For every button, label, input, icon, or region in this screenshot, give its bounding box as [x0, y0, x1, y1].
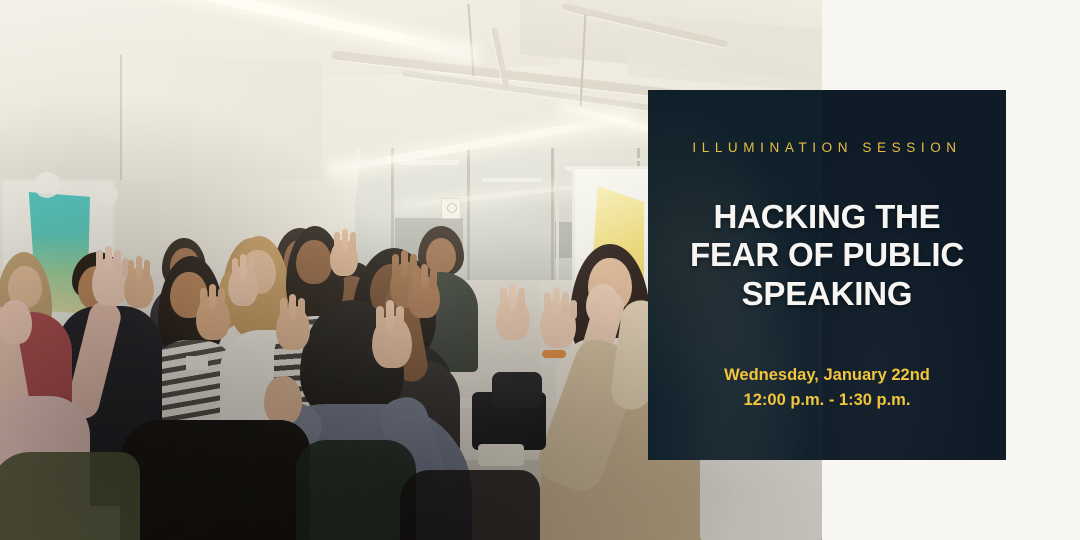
event-date: Wednesday, January 22nd [724, 363, 930, 388]
session-eyebrow-label: ILLUMINATION SESSION [692, 140, 961, 155]
crowd-shadow-mass [120, 420, 310, 540]
page-title: HACKING THE FEAR OF PUBLIC SPEAKING [662, 198, 992, 313]
event-info-panel: ILLUMINATION SESSION HACKING THE FEAR OF… [648, 90, 1006, 460]
crowd-shadow-mass [296, 440, 416, 540]
crowd-shadow-mass [400, 470, 540, 540]
title-line-3: SPEAKING [662, 275, 992, 313]
event-datetime: Wednesday, January 22nd 12:00 p.m. - 1:3… [724, 363, 930, 413]
event-time: 12:00 p.m. - 1:30 p.m. [724, 388, 930, 413]
poster-canvas: ILLUMINATION SESSION HACKING THE FEAR OF… [0, 0, 1080, 540]
crowd-shadow-mass [0, 452, 140, 540]
title-line-1: HACKING THE [662, 198, 992, 236]
title-line-2: FEAR OF PUBLIC [662, 236, 992, 274]
